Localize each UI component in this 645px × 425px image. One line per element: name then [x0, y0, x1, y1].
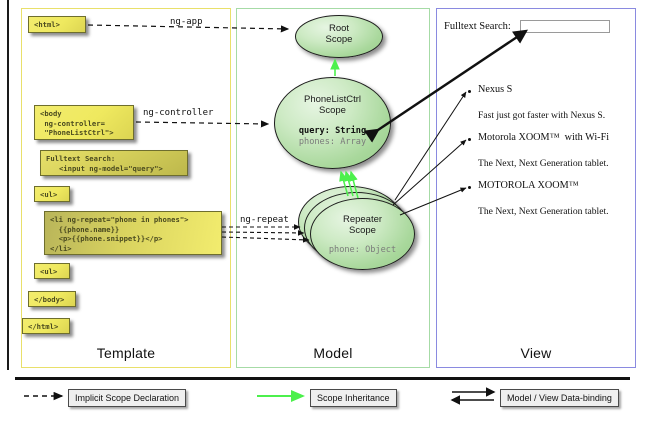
template-box-li-repeat: <li ng-repeat="phone in phones"> {{phone… — [44, 211, 222, 255]
template-box-html-open: <html> — [28, 16, 86, 33]
repeater-scope-prop-phone: phone: Object — [310, 245, 415, 257]
outer-left-rule — [7, 0, 9, 370]
view-item-name: Motorola XOOM™ with Wi-Fi — [478, 132, 609, 143]
legend-item-implicit-scope-declaration: Implicit Scope Declaration — [68, 389, 186, 407]
edge-label-ng-controller: ng-controller — [143, 108, 213, 118]
view-search-input[interactable] — [520, 20, 610, 33]
template-box-ul-close: <ul> — [34, 263, 70, 279]
phonelistctrl-scope-prop-query: query: String — [274, 126, 391, 138]
legend-item-scope-inheritance: Scope Inheritance — [310, 389, 397, 407]
legend-divider — [15, 377, 630, 380]
phonelistctrl-scope-prop-phones: phones: Array — [274, 137, 391, 149]
angularjs-concepts-diagram: Template <html> <body ng-controller= "Ph… — [0, 0, 645, 425]
template-box-body-close: </body> — [28, 291, 76, 307]
ellipse-phonelistctrl-scope — [274, 77, 391, 169]
legend-item-model-view-data-binding: Model / View Data-binding — [500, 389, 619, 407]
view-item-bullet — [468, 138, 471, 141]
view-item-name: MOTOROLA XOOM™ — [478, 180, 579, 191]
edge-label-ng-repeat: ng-repeat — [240, 215, 289, 225]
edge-label-ng-app: ng-app — [170, 17, 203, 27]
template-box-body-open: <body ng-controller= "PhoneListCtrl"> — [34, 105, 134, 140]
view-item-snippet: The Next, Next Generation tablet. — [478, 158, 609, 169]
phonelistctrl-scope-title-line2: Scope — [274, 105, 391, 117]
view-item-bullet — [468, 186, 471, 189]
panel-view-label: View — [437, 345, 635, 361]
repeater-scope-title-line1: Repeater — [310, 214, 415, 226]
view-item-name: Nexus S — [478, 84, 512, 95]
repeater-scope-title-line2: Scope — [310, 225, 415, 237]
view-item-bullet — [468, 90, 471, 93]
view-search-label: Fulltext Search: — [444, 21, 511, 32]
legend-arrow-model-view-data-binding — [452, 392, 494, 400]
phonelistctrl-scope-title-line1: PhoneListCtrl — [274, 94, 391, 106]
root-scope-title-line2: Scope — [295, 34, 383, 46]
panel-template-label: Template — [22, 345, 230, 361]
template-box-html-close: </html> — [22, 318, 70, 334]
template-box-search-block: Fulltext Search: <input ng-model="query"… — [40, 150, 188, 176]
root-scope-title-line1: Root — [295, 23, 383, 35]
panel-model-label: Model — [237, 345, 429, 361]
view-item-snippet: The Next, Next Generation tablet. — [478, 206, 609, 217]
template-box-ul-open: <ul> — [34, 186, 70, 202]
view-item-snippet: Fast just got faster with Nexus S. — [478, 110, 605, 121]
